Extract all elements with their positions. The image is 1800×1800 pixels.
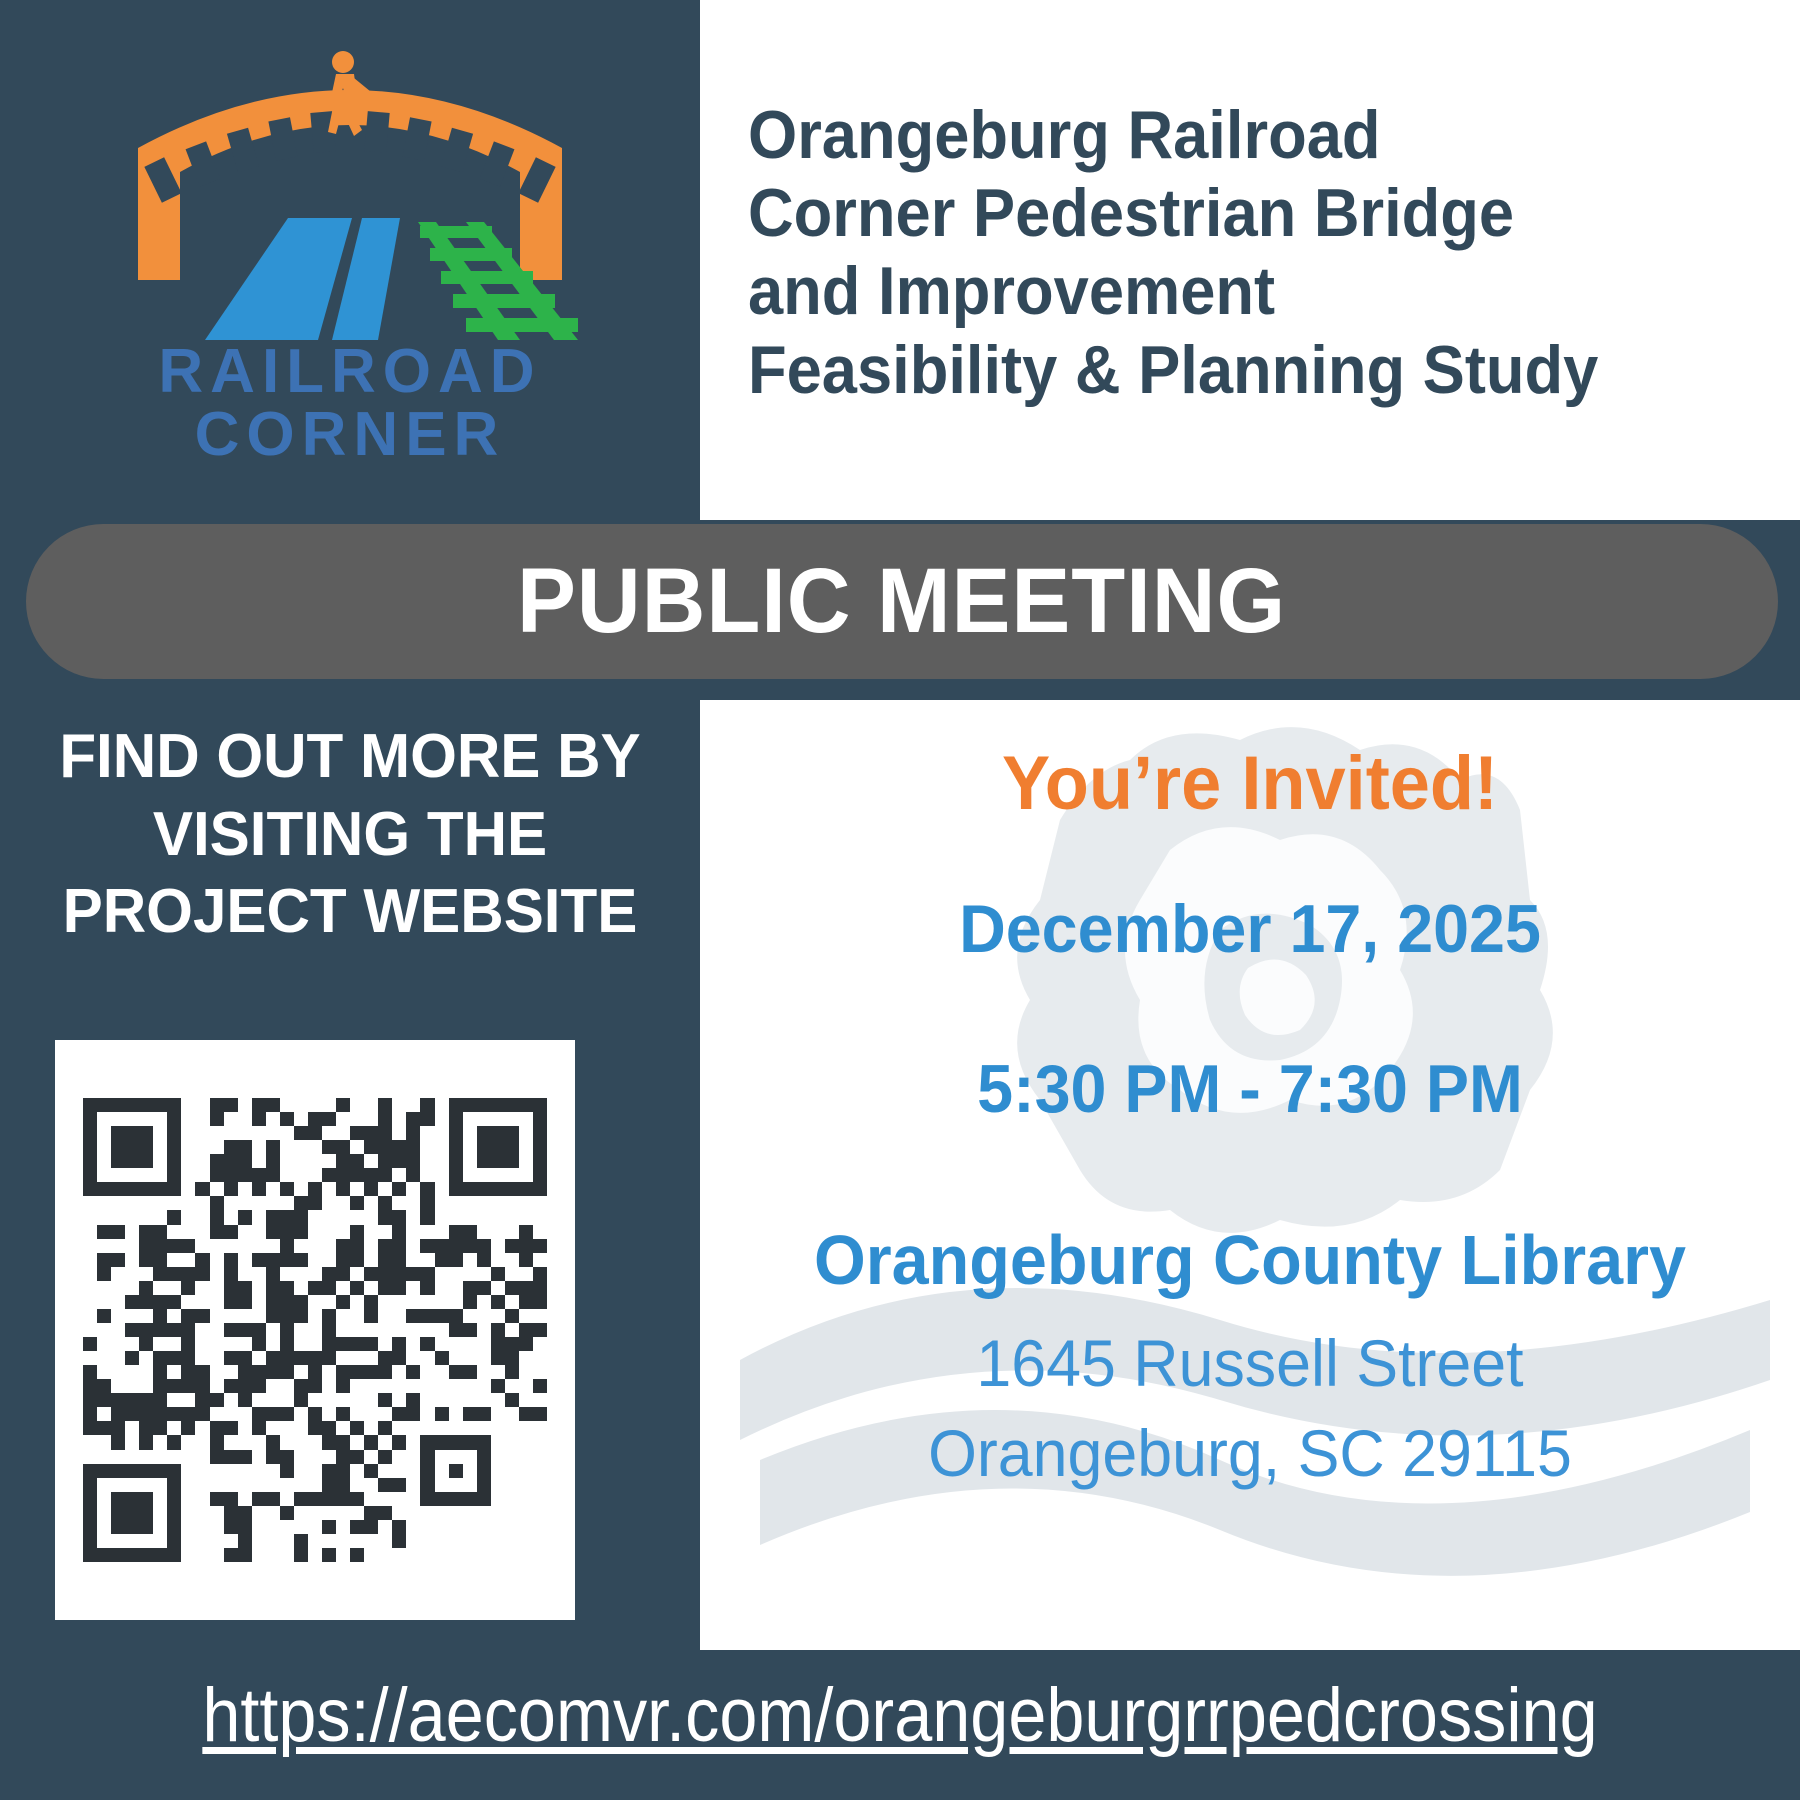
public-meeting-flyer: RAILROAD CORNER Orangeburg Railroad Corn… [0,0,1800,1800]
project-title-line-3: and Improvement [748,252,1706,330]
project-title-line-1: Orangeburg Railroad [748,96,1706,174]
callout-line-3: PROJECT WEBSITE [20,873,680,951]
project-website-qr-code[interactable] [83,1098,547,1562]
meeting-address-line-2: Orangeburg, SC 29115 [728,1415,1773,1491]
callout-line-2: VISITING THE [20,796,680,874]
project-title-line-2: Corner Pedestrian Bridge [748,174,1706,252]
invited-headline: You’re Invited! [728,740,1773,827]
railroad-corner-logo: RAILROAD CORNER [100,40,600,440]
page-title: Orangeburg Railroad Corner Pedestrian Br… [748,96,1706,409]
project-website-link[interactable]: https://aecomvr.com/orangeburgrrpedcross… [90,1672,1710,1759]
callout-line-1: FIND OUT MORE BY [20,718,680,796]
meeting-details-text: You’re Invited! December 17, 2025 5:30 P… [700,700,1800,1650]
public-meeting-label: PUBLIC MEETING [517,549,1286,654]
meeting-time: 5:30 PM - 7:30 PM [728,1050,1773,1128]
logo-word-line1: RAILROAD [100,340,600,403]
meeting-details-panel: You’re Invited! December 17, 2025 5:30 P… [700,700,1800,1650]
meeting-venue: Orangeburg County Library [728,1220,1773,1300]
meeting-date: December 17, 2025 [728,890,1773,968]
project-title-line-4: Feasibility & Planning Study [748,331,1706,409]
qr-code-panel[interactable] [55,1040,575,1620]
logo-word-line2: CORNER [100,403,600,466]
find-out-more-callout: FIND OUT MORE BY VISITING THE PROJECT WE… [20,718,680,951]
public-meeting-banner: PUBLIC MEETING [26,524,1778,679]
railroad-corner-bridge-logo-icon [100,40,600,340]
meeting-address-line-1: 1645 Russell Street [728,1325,1773,1401]
